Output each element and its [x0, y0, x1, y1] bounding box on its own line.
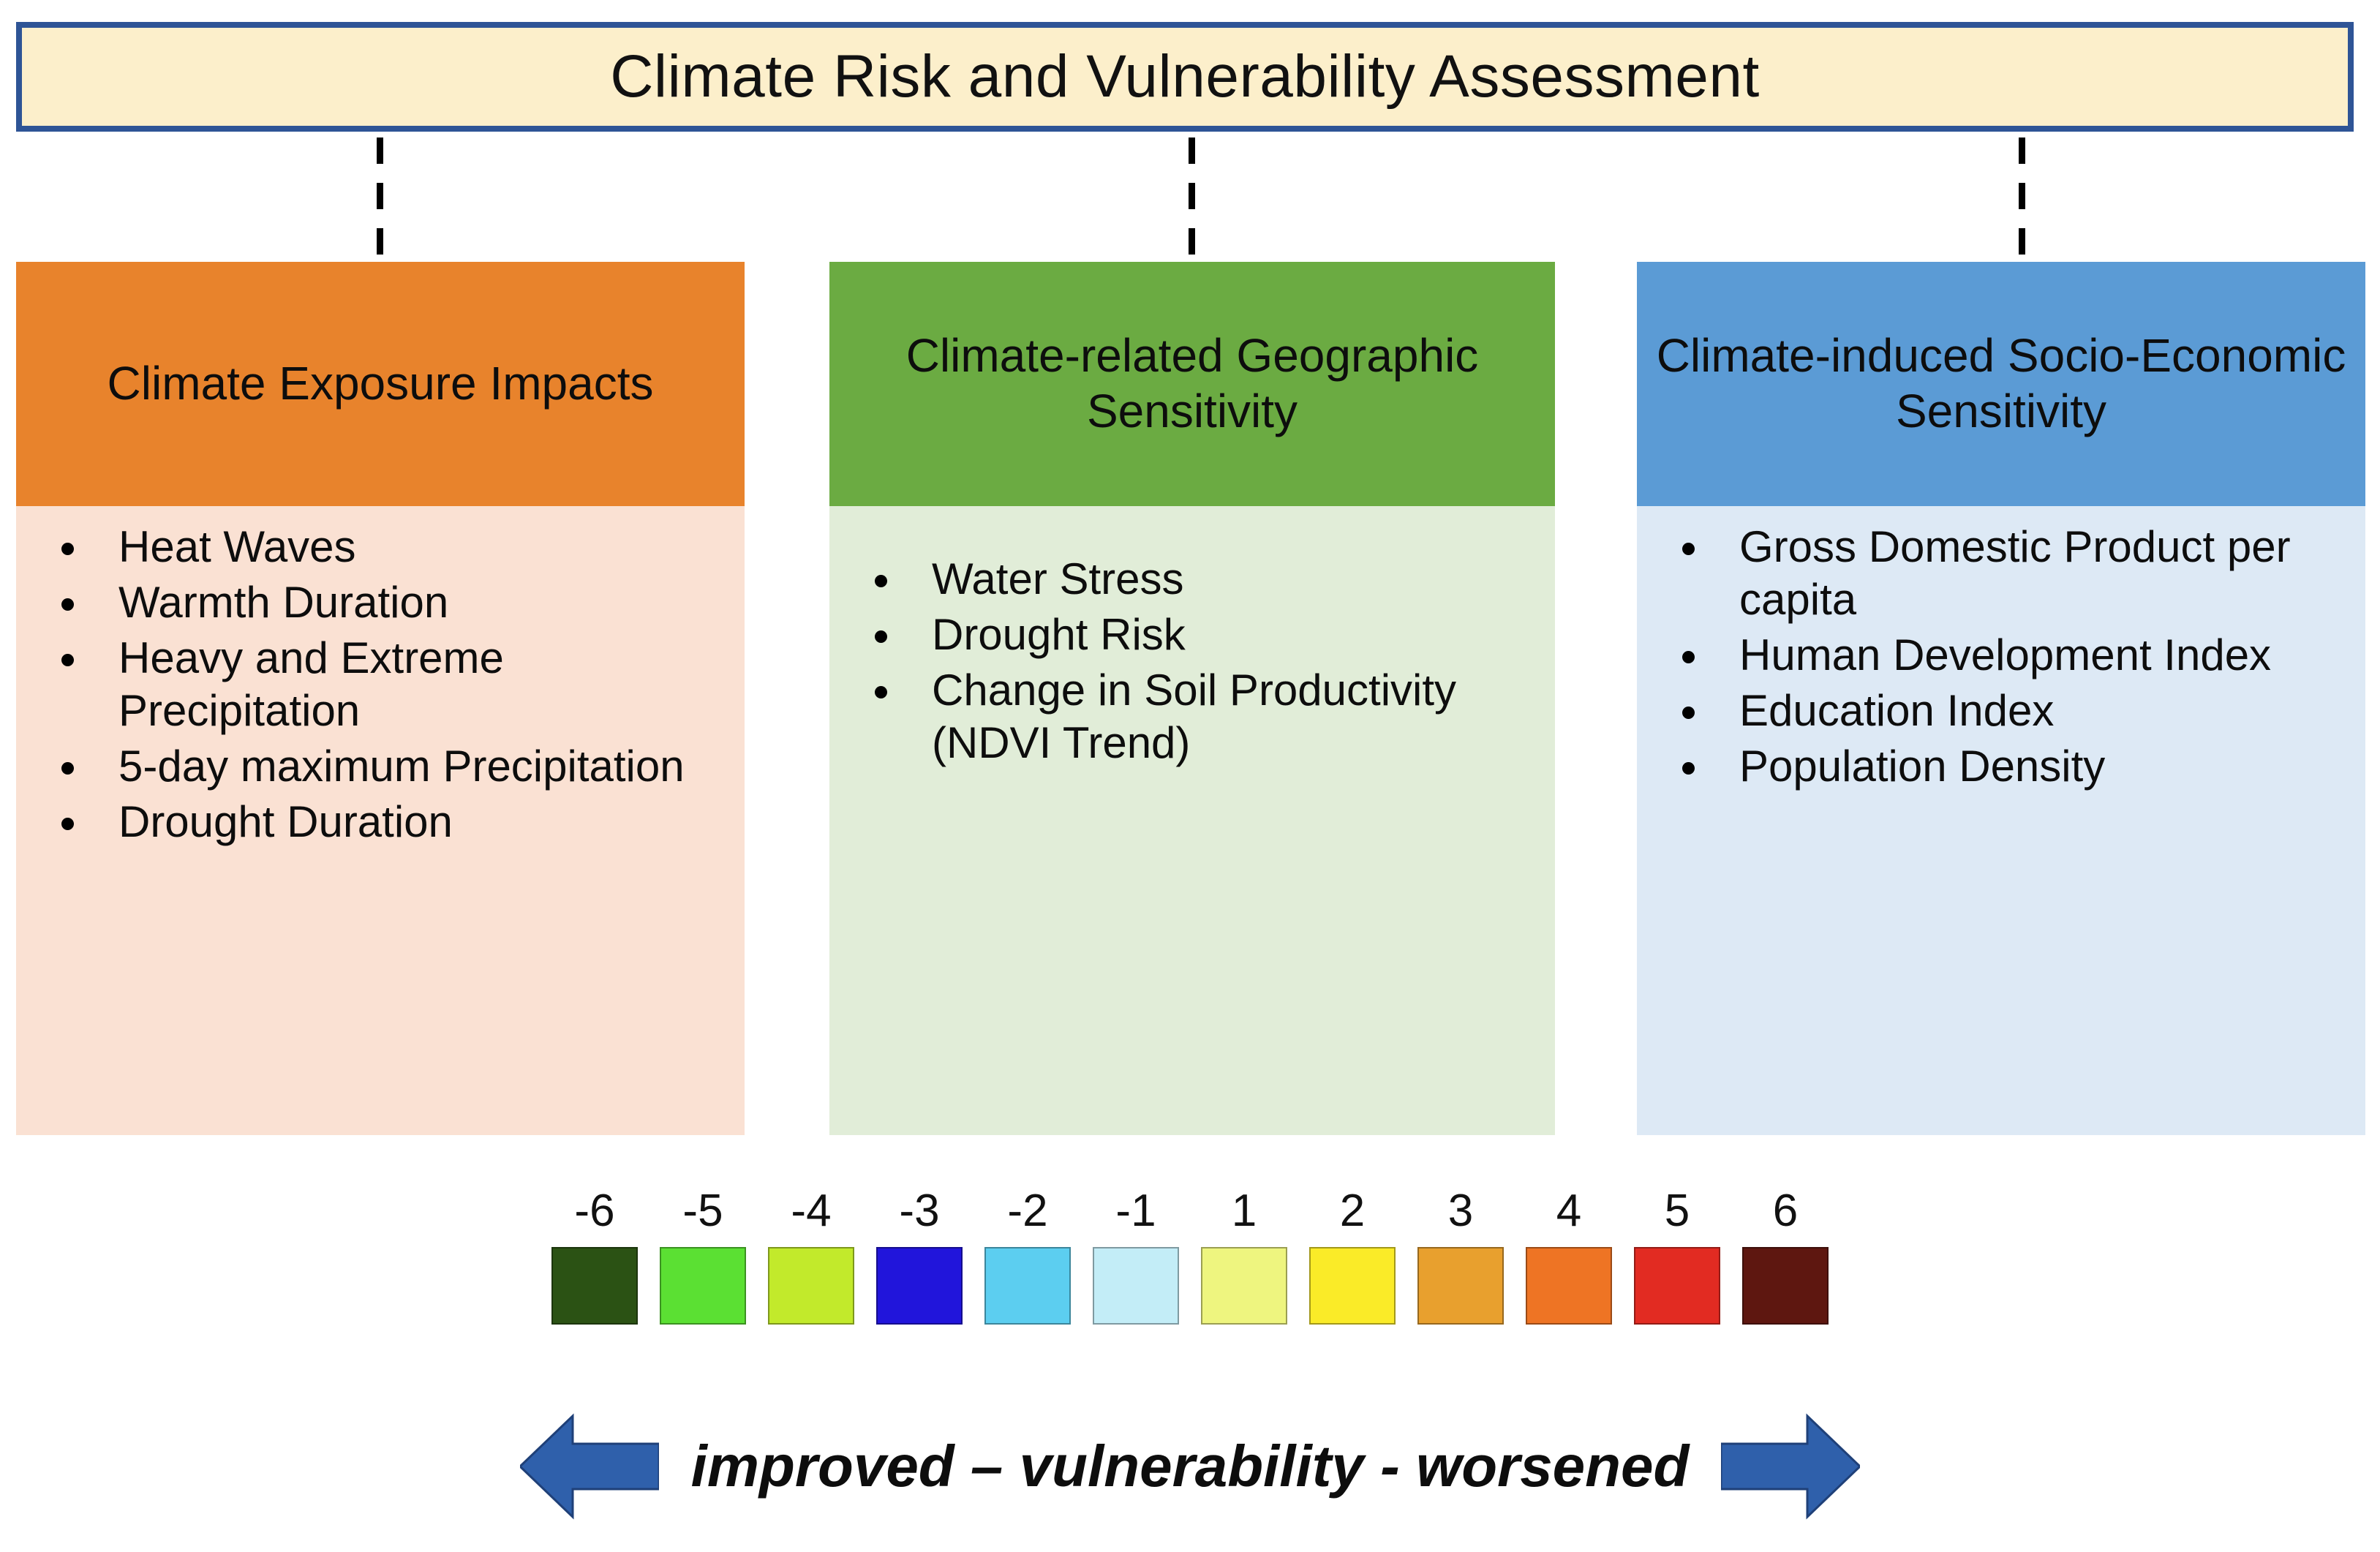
bullet-dot-icon: [61, 543, 74, 555]
legend-color-swatch: [551, 1247, 638, 1325]
legend-value-label: 1: [1232, 1189, 1257, 1234]
list-item: Human Development Index: [1669, 629, 2346, 682]
legend-color-swatch: [1742, 1247, 1829, 1325]
legend-cell: -6: [549, 1189, 640, 1325]
legend-value-label: 2: [1340, 1189, 1365, 1234]
legend-cell: 4: [1524, 1189, 1614, 1325]
arrow-left-icon: [520, 1412, 659, 1521]
legend-cell: -3: [874, 1189, 965, 1325]
page-title: Climate Risk and Vulnerability Assessmen…: [610, 42, 1760, 111]
bullet-dot-icon: [1682, 651, 1695, 663]
legend-cell: 5: [1632, 1189, 1722, 1325]
bullet-dot-icon: [1682, 543, 1695, 555]
legend-color-swatch: [1093, 1247, 1179, 1325]
legend-cell: 2: [1307, 1189, 1398, 1325]
legend-cell: -4: [766, 1189, 856, 1325]
bullet-dot-icon: [875, 630, 887, 643]
assessment-title-box: Climate Risk and Vulnerability Assessmen…: [16, 22, 2354, 132]
list-item-label: Population Density: [1739, 742, 2105, 791]
bullet-dot-icon: [61, 654, 74, 666]
bullet-dot-icon: [61, 598, 74, 611]
category-column-exposure: Climate Exposure Impacts Heat Waves Warm…: [16, 262, 745, 1135]
list-item-label: Drought Risk: [932, 610, 1186, 659]
legend-cell: 6: [1740, 1189, 1831, 1325]
column-header-label: Climate Exposure Impacts: [108, 356, 654, 412]
legend-caption-label: improved – vulnerability - worsened: [691, 1433, 1690, 1500]
list-item-label: Warmth Duration: [118, 578, 448, 627]
connector-line-socio: [2019, 138, 2025, 262]
legend-color-swatch: [1309, 1247, 1396, 1325]
legend-cell: 3: [1415, 1189, 1506, 1325]
column-header-exposure: Climate Exposure Impacts: [16, 262, 745, 506]
indicator-list-exposure: Heat Waves Warmth Duration Heavy and Ext…: [48, 521, 726, 848]
column-body-socio-economic: Gross Domestic Product per capita Human …: [1637, 506, 2365, 1135]
bullet-dot-icon: [1682, 762, 1695, 775]
column-body-geographic: Water Stress Drought Risk Change in Soil…: [829, 506, 1555, 1135]
legend-cell: -5: [658, 1189, 748, 1325]
list-item-label: Gross Domestic Product per capita: [1739, 522, 2291, 624]
list-item: Population Density: [1669, 740, 2346, 793]
list-item-label: Human Development Index: [1739, 630, 2271, 679]
list-item: Education Index: [1669, 685, 2346, 737]
connector-line-geographic: [1189, 138, 1195, 262]
column-header-label: Climate-induced Socio-Economic Sensitivi…: [1653, 328, 2349, 439]
legend-value-label: 5: [1665, 1189, 1690, 1234]
legend-caption-row: improved – vulnerability - worsened: [0, 1412, 2380, 1521]
vulnerability-color-legend: -6-5-4-3-2-1123456: [0, 1189, 2380, 1325]
category-column-geographic: Climate-related Geographic Sensitivity W…: [829, 262, 1555, 1135]
column-body-exposure: Heat Waves Warmth Duration Heavy and Ext…: [16, 506, 745, 1135]
bullet-dot-icon: [61, 818, 74, 830]
bullet-dot-icon: [61, 762, 74, 775]
legend-color-swatch: [1634, 1247, 1720, 1325]
legend-cell: -2: [982, 1189, 1073, 1325]
legend-value-label: -3: [899, 1189, 939, 1234]
legend-color-swatch: [768, 1247, 854, 1325]
legend-scale: -6-5-4-3-2-1123456: [549, 1189, 1831, 1325]
legend-value-label: -2: [1007, 1189, 1047, 1234]
legend-value-label: 4: [1556, 1189, 1581, 1234]
column-header-label: Climate-related Geographic Sensitivity: [846, 328, 1539, 439]
list-item-label: Change in Soil Productivity (NDVI Trend): [932, 666, 1456, 767]
legend-color-swatch: [984, 1247, 1071, 1325]
arrow-right-icon: [1721, 1412, 1860, 1521]
legend-value-label: 3: [1448, 1189, 1473, 1234]
legend-value-label: 6: [1773, 1189, 1798, 1234]
list-item-label: Heat Waves: [118, 522, 356, 571]
legend-value-label: -1: [1115, 1189, 1156, 1234]
list-item: Water Stress: [862, 553, 1536, 606]
legend-value-label: -5: [682, 1189, 723, 1234]
bullet-dot-icon: [1682, 707, 1695, 719]
list-item-label: Education Index: [1739, 686, 2054, 735]
list-item: Drought Duration: [48, 796, 726, 848]
list-item-label: Water Stress: [932, 554, 1184, 603]
legend-value-label: -4: [791, 1189, 831, 1234]
legend-color-swatch: [1417, 1247, 1504, 1325]
bullet-dot-icon: [875, 575, 887, 587]
legend-color-swatch: [660, 1247, 746, 1325]
list-item: Warmth Duration: [48, 576, 726, 629]
connector-line-exposure: [377, 138, 383, 262]
legend-color-swatch: [1201, 1247, 1287, 1325]
column-header-geographic: Climate-related Geographic Sensitivity: [829, 262, 1555, 506]
list-item: Heavy and Extreme Precipitation: [48, 632, 726, 737]
list-item: Change in Soil Productivity (NDVI Trend): [862, 664, 1536, 769]
list-item-label: Drought Duration: [118, 797, 453, 846]
legend-color-swatch: [876, 1247, 963, 1325]
legend-cell: 1: [1199, 1189, 1289, 1325]
list-item-label: 5-day maximum Precipitation: [118, 742, 685, 791]
list-item: 5-day maximum Precipitation: [48, 740, 726, 793]
list-item: Heat Waves: [48, 521, 726, 573]
indicator-list-geographic: Water Stress Drought Risk Change in Soil…: [862, 553, 1536, 769]
list-item-label: Heavy and Extreme Precipitation: [118, 633, 504, 735]
legend-cell: -1: [1091, 1189, 1181, 1325]
list-item: Gross Domestic Product per capita: [1669, 521, 2346, 626]
legend-value-label: -6: [574, 1189, 614, 1234]
indicator-list-socio-economic: Gross Domestic Product per capita Human …: [1669, 521, 2346, 793]
column-header-socio-economic: Climate-induced Socio-Economic Sensitivi…: [1637, 262, 2365, 506]
list-item: Drought Risk: [862, 609, 1536, 661]
legend-color-swatch: [1526, 1247, 1612, 1325]
category-column-socio-economic: Climate-induced Socio-Economic Sensitivi…: [1637, 262, 2365, 1135]
bullet-dot-icon: [875, 686, 887, 698]
